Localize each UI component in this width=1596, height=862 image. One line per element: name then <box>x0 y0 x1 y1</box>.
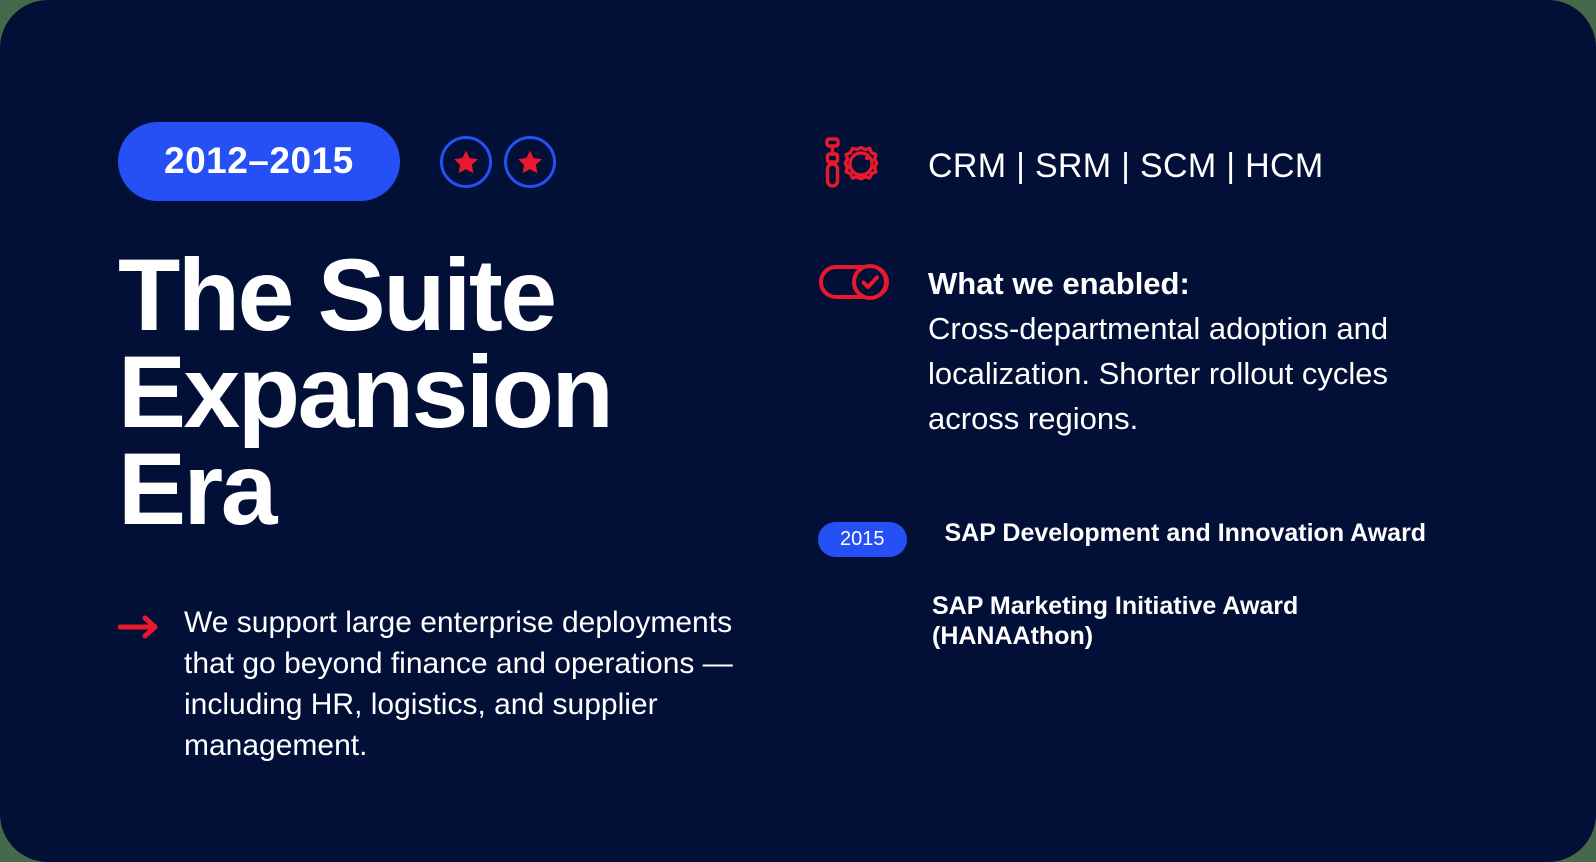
headline-line-1: The Suite <box>118 247 778 344</box>
modules-row: CRM | SRM | SCM | HCM <box>818 136 1518 194</box>
left-column: 2012–2015 The Suite Expansion Era <box>118 122 798 766</box>
right-column: CRM | SRM | SCM | HCM What we enabled: C… <box>818 136 1518 652</box>
modules-text: CRM | SRM | SCM | HCM <box>928 136 1323 183</box>
star-badge-1 <box>440 136 492 188</box>
awards-list: 2015 SAP Development and Innovation Awar… <box>818 518 1518 652</box>
award-title: SAP Development and Innovation Award <box>945 518 1427 549</box>
era-pill: 2012–2015 <box>118 122 400 201</box>
star-icon <box>451 147 481 177</box>
enabled-block: What we enabled: Cross-departmental adop… <box>928 262 1468 442</box>
award-item-2: SAP Marketing Initiative Award (HANAAtho… <box>932 591 1518 652</box>
era-row: 2012–2015 <box>118 122 798 201</box>
headline-line-2: Expansion Era <box>118 344 778 538</box>
award-item-1: 2015 SAP Development and Innovation Awar… <box>818 518 1518 557</box>
award-title: SAP Marketing Initiative Award (HANAAtho… <box>932 591 1452 652</box>
arrow-right-icon <box>118 614 162 645</box>
star-badge-2 <box>504 136 556 188</box>
page-title: The Suite Expansion Era <box>118 247 778 538</box>
support-text: We support large enterprise deployments … <box>184 602 744 766</box>
enabled-body-text: Cross-departmental adoption and localiza… <box>928 311 1388 436</box>
enabled-row: What we enabled: Cross-departmental adop… <box>818 262 1518 442</box>
star-icon <box>515 147 545 177</box>
year-badge: 2015 <box>818 522 907 557</box>
toggle-check-icon <box>818 262 890 302</box>
slide-card: 2012–2015 The Suite Expansion Era <box>0 0 1596 862</box>
support-statement: We support large enterprise deployments … <box>118 602 798 766</box>
star-rating <box>440 136 556 188</box>
screwdriver-gear-icon <box>818 136 890 194</box>
enabled-title: What we enabled: <box>928 262 1468 307</box>
